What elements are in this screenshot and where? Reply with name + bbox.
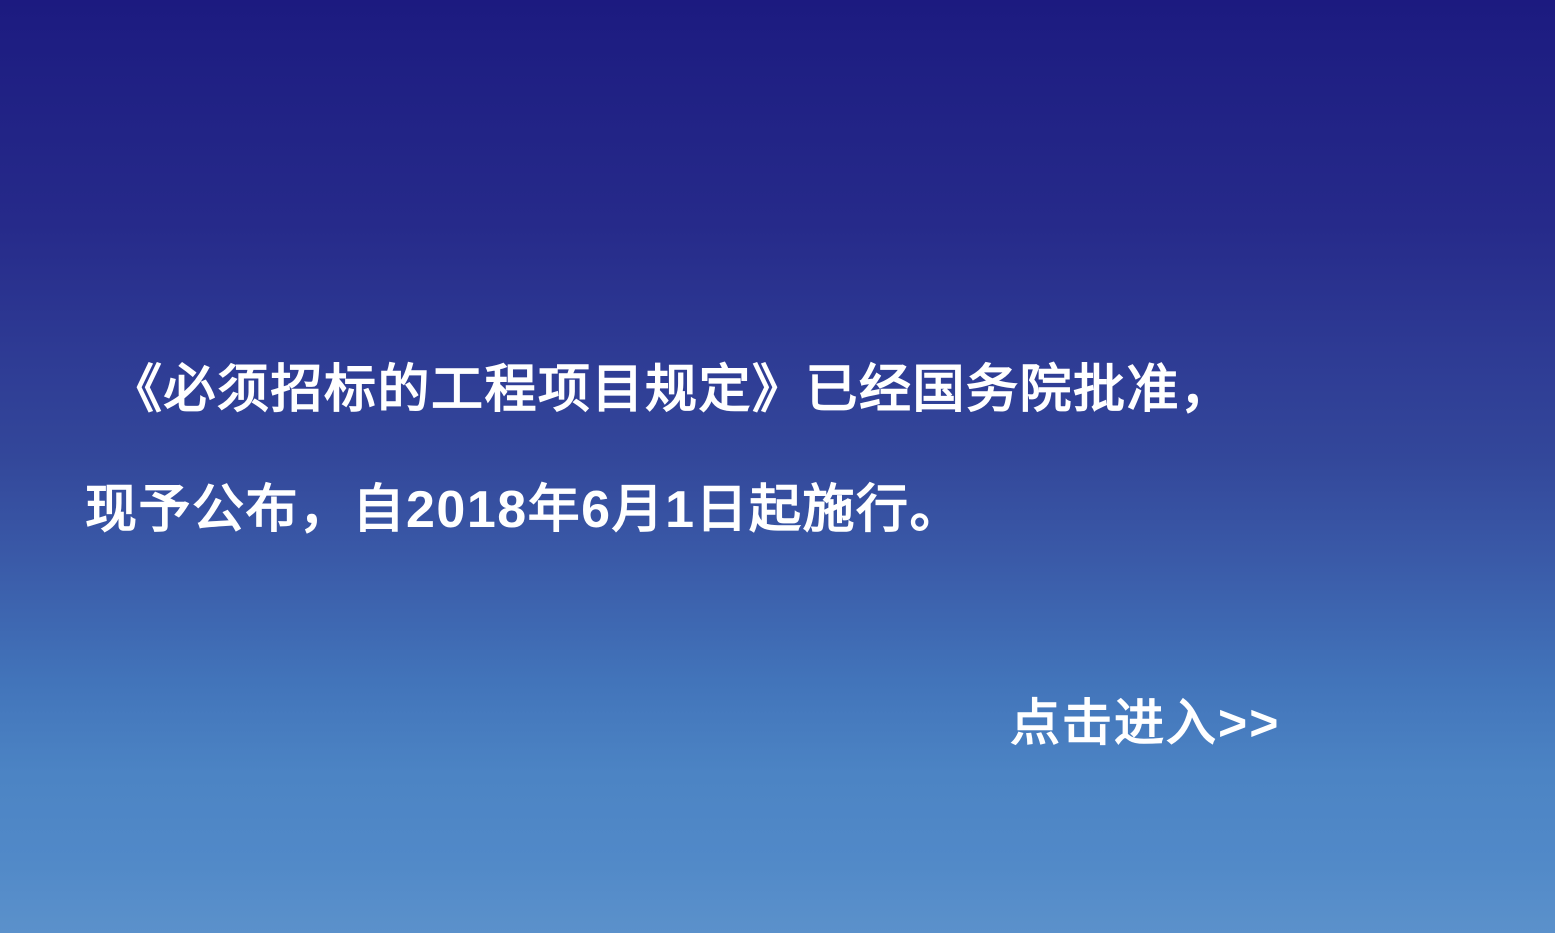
headline-block: 《必须招标的工程项目规定》已经国务院批准， 现予公布，自2018年6月1日起施行… [0,330,1555,570]
promo-banner: 《必须招标的工程项目规定》已经国务院批准， 现予公布，自2018年6月1日起施行… [0,0,1555,933]
headline-line-2: 现予公布，自2018年6月1日起施行。 [0,450,1555,570]
enter-link[interactable]: 点击进入>> [1010,688,1280,758]
headline-line-1: 《必须招标的工程项目规定》已经国务院批准， [0,330,1555,450]
